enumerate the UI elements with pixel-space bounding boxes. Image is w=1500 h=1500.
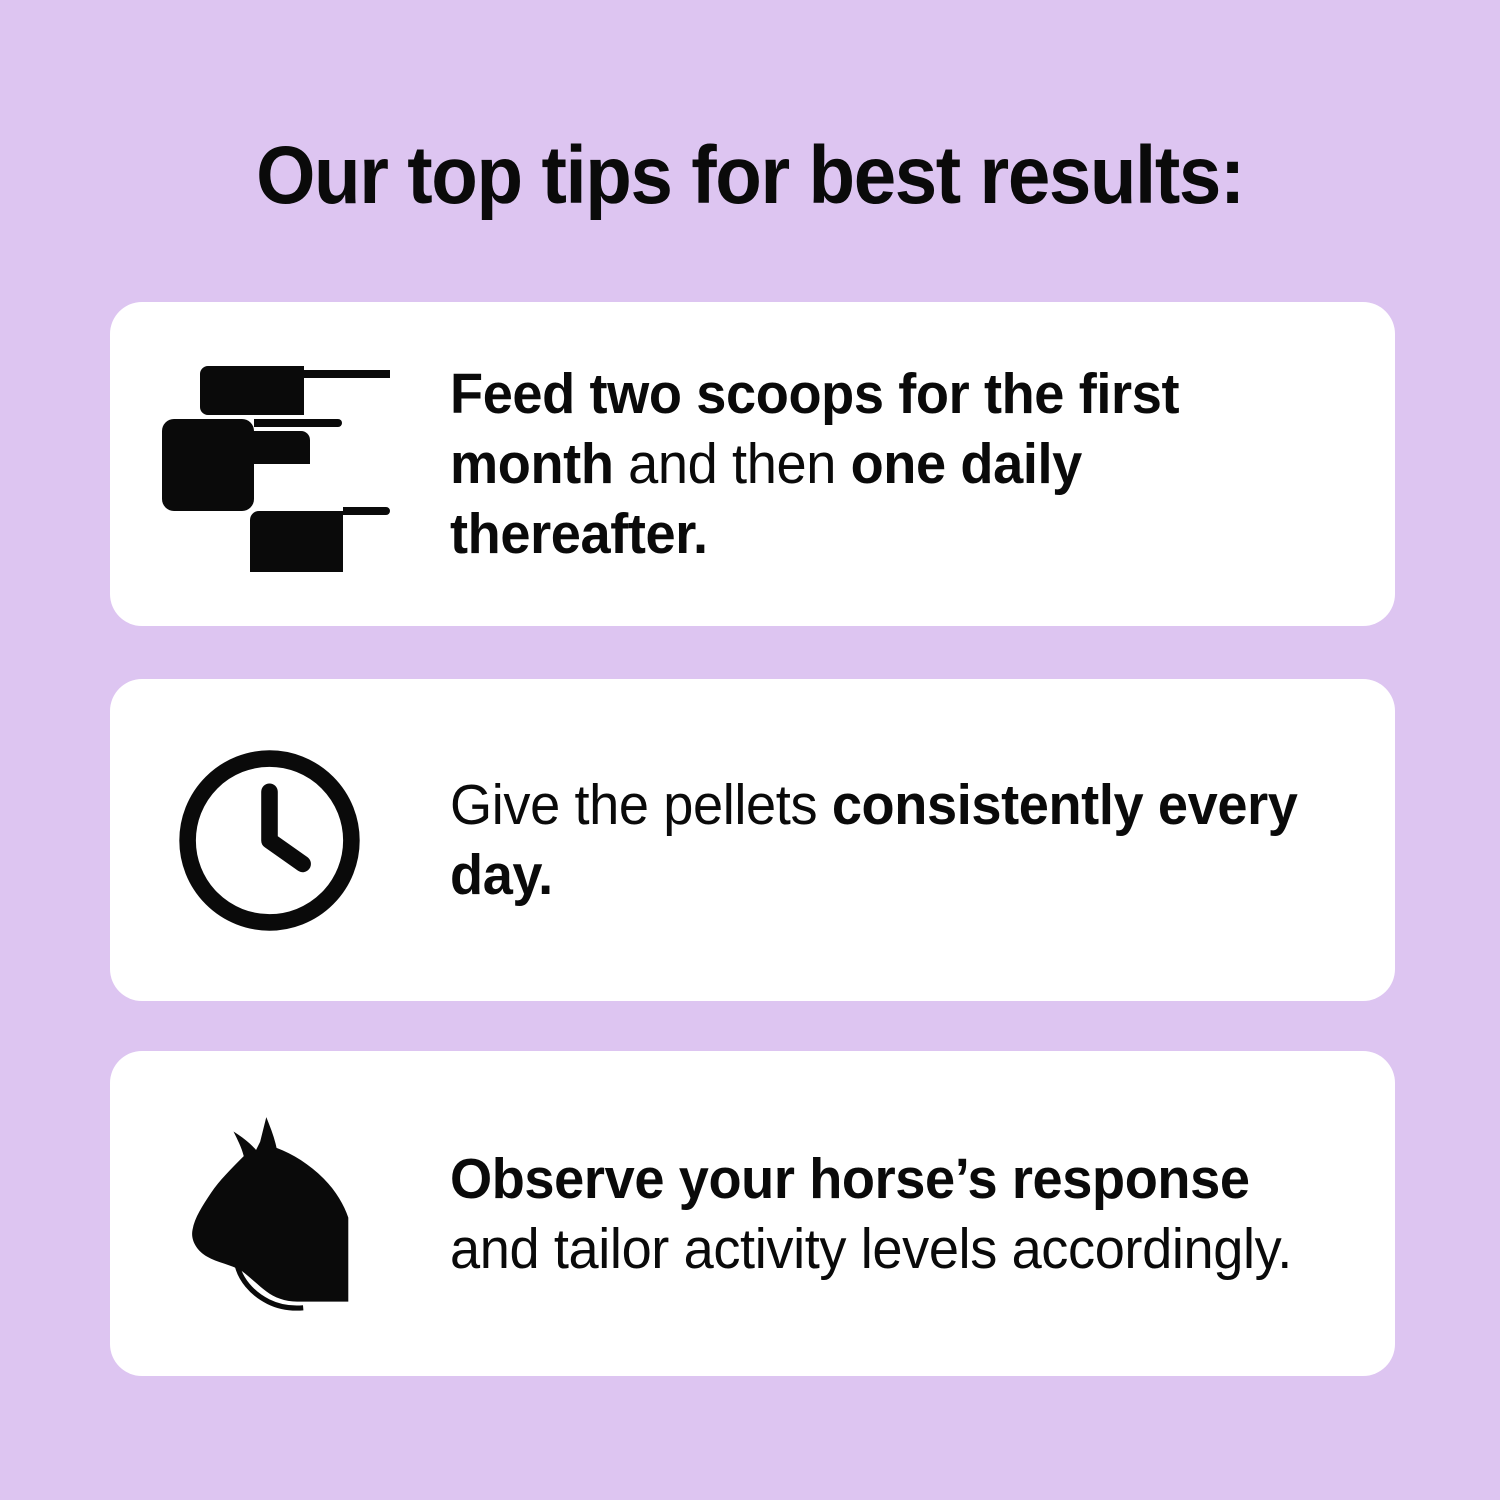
tip-text: Give the pellets consistently every day. bbox=[450, 770, 1314, 910]
tip-text-container: Observe your horse’s response and tailor… bbox=[450, 1144, 1395, 1284]
tip-card: Give the pellets consistently every day. bbox=[110, 679, 1395, 1001]
tip-icon-container bbox=[110, 679, 450, 1001]
horse-head-icon bbox=[172, 1111, 377, 1316]
tip-text-segment: and tailor activity levels accordingly. bbox=[450, 1217, 1292, 1281]
tip-text-segment: and then bbox=[614, 432, 851, 496]
tip-icon-container bbox=[110, 1051, 450, 1376]
tip-text-container: Give the pellets consistently every day. bbox=[450, 770, 1395, 910]
page-title: Our top tips for best results: bbox=[53, 135, 1448, 217]
scoops-icon bbox=[160, 357, 390, 572]
clock-icon bbox=[172, 743, 367, 938]
tips-card-list: Feed two scoops for the first month and … bbox=[110, 302, 1395, 1376]
tip-icon-container bbox=[110, 302, 450, 626]
tip-text: Observe your horse’s response and tailor… bbox=[450, 1144, 1314, 1284]
tip-text-segment: Give the pellets bbox=[450, 773, 832, 837]
tip-text-segment: Observe your horse’s response bbox=[450, 1147, 1250, 1211]
tip-card: Feed two scoops for the first month and … bbox=[110, 302, 1395, 626]
tip-text-container: Feed two scoops for the first month and … bbox=[450, 359, 1395, 569]
tips-poster: Our top tips for best results: bbox=[0, 0, 1500, 1500]
tip-card: Observe your horse’s response and tailor… bbox=[110, 1051, 1395, 1376]
tip-text: Feed two scoops for the first month and … bbox=[450, 359, 1314, 569]
